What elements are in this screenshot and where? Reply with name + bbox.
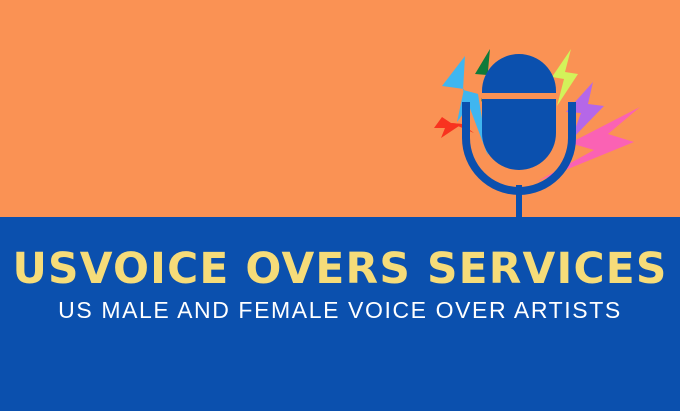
page-title: USVOICE OVERS SERVICES xyxy=(5,244,675,294)
voice-over-services-banner: USVOICE OVERS SERVICES US MALE AND FEMAL… xyxy=(0,0,680,411)
banner-text-block: USVOICE OVERS SERVICES US MALE AND FEMAL… xyxy=(0,217,680,411)
microphone-icon xyxy=(462,54,576,233)
microphone-artwork xyxy=(418,30,668,230)
page-subtitle: US MALE AND FEMALE VOICE OVER ARTISTS xyxy=(0,296,680,324)
